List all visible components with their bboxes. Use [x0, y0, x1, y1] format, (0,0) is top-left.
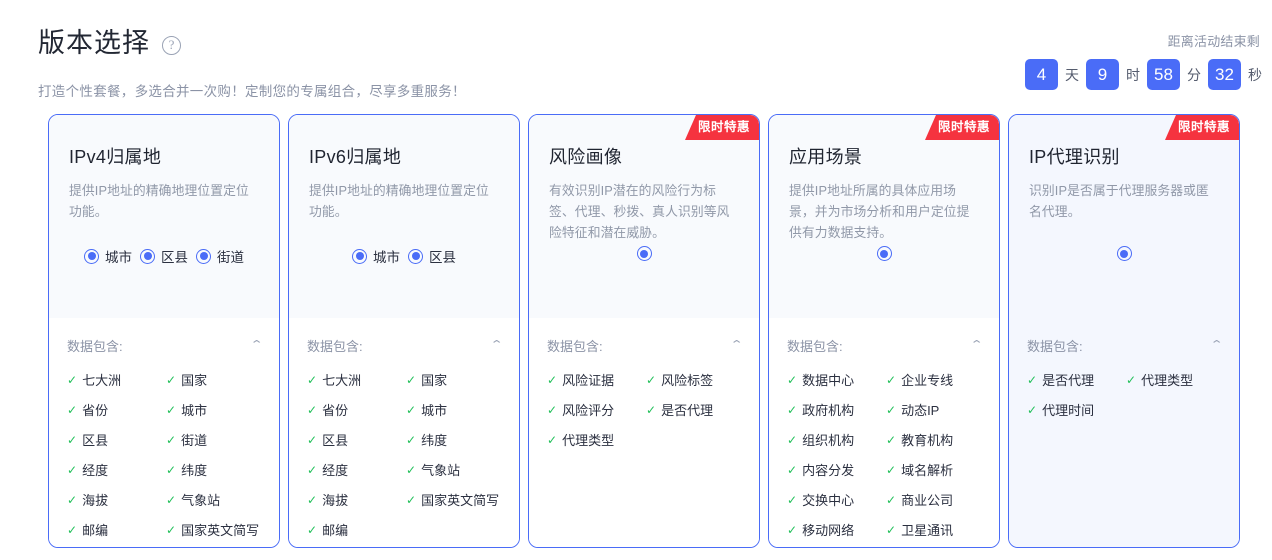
feature-label: 代理类型	[1141, 370, 1193, 389]
check-icon: ✓	[886, 373, 896, 387]
feature-label: 国家	[421, 370, 447, 389]
feature-label: 七大洲	[322, 370, 361, 389]
plan-card[interactable]: 限时特惠应用场景提供IP地址所属的具体应用场景，并为市场分析和用户定位提供有力数…	[768, 114, 1000, 548]
feature-item: ✓城市	[166, 400, 261, 419]
check-icon: ✓	[166, 463, 176, 477]
feature-item: ✓国家英文简写	[406, 490, 501, 509]
feature-item: ✓政府机构	[787, 400, 882, 419]
check-icon: ✓	[547, 433, 557, 447]
check-icon: ✓	[166, 373, 176, 387]
feature-label: 纬度	[181, 460, 207, 479]
card-includes-section: 数据包含:⌃✓风险证据✓风险标签✓风险评分✓是否代理✓代理类型	[529, 318, 759, 547]
check-icon: ✓	[886, 493, 896, 507]
card-includes-section: 数据包含:⌃✓七大洲✓国家✓省份✓城市✓区县✓纬度✓经度✓气象站✓海拔✓国家英文…	[289, 318, 519, 547]
check-icon: ✓	[787, 373, 797, 387]
check-icon: ✓	[307, 463, 317, 477]
feature-item: ✓经度	[307, 460, 402, 479]
radio-option[interactable]: 区县	[140, 246, 188, 266]
feature-item: ✓国家	[406, 370, 501, 389]
radio-selected-icon[interactable]	[637, 246, 652, 261]
feature-item: ✓代理类型	[1126, 370, 1221, 389]
card-top-section: 限时特惠应用场景提供IP地址所属的具体应用场景，并为市场分析和用户定位提供有力数…	[769, 115, 999, 318]
plan-card[interactable]: 限时特惠IP代理识别识别IP是否属于代理服务器或匿名代理。数据包含:⌃✓是否代理…	[1008, 114, 1240, 548]
card-options	[529, 246, 759, 261]
feature-item: ✓国家英文简写	[166, 520, 261, 539]
feature-list: ✓七大洲✓国家✓省份✓城市✓区县✓纬度✓经度✓气象站✓海拔✓国家英文简写✓邮编	[307, 370, 501, 539]
card-title: IPv4归属地	[69, 143, 259, 169]
radio-option-label: 城市	[373, 246, 400, 266]
feature-label: 经度	[322, 460, 348, 479]
card-description: 提供IP地址的精确地理位置定位功能。	[309, 180, 499, 222]
promo-badge: 限时特惠	[925, 115, 999, 140]
radio-selected-icon[interactable]	[408, 249, 423, 264]
countdown-value-1: 9	[1086, 59, 1119, 90]
help-question-icon[interactable]: ?	[162, 36, 181, 55]
feature-label: 城市	[181, 400, 207, 419]
check-icon: ✓	[886, 433, 896, 447]
feature-label: 政府机构	[802, 400, 854, 419]
feature-item: ✓纬度	[406, 430, 501, 449]
check-icon: ✓	[1126, 373, 1136, 387]
feature-item: ✓动态IP	[886, 400, 981, 419]
feature-item: ✓卫星通讯	[886, 520, 981, 539]
feature-label: 国家	[181, 370, 207, 389]
includes-label: 数据包含:	[307, 336, 363, 355]
radio-selected-icon[interactable]	[140, 249, 155, 264]
chevron-up-icon[interactable]: ⌃	[969, 340, 983, 351]
feature-label: 省份	[322, 400, 348, 419]
check-icon: ✓	[307, 493, 317, 507]
countdown-unit-2: 分	[1187, 65, 1201, 85]
feature-item: ✓七大洲	[307, 370, 402, 389]
radio-option[interactable]	[637, 246, 652, 261]
radio-selected-icon[interactable]	[196, 249, 211, 264]
feature-item: ✓是否代理	[1027, 370, 1122, 389]
card-top-section: IPv4归属地提供IP地址的精确地理位置定位功能。城市区县街道	[49, 115, 279, 318]
check-icon: ✓	[406, 493, 416, 507]
card-includes-section: 数据包含:⌃✓七大洲✓国家✓省份✓城市✓区县✓街道✓经度✓纬度✓海拔✓气象站✓邮…	[49, 318, 279, 547]
feature-label: 海拔	[82, 490, 108, 509]
feature-item: ✓国家	[166, 370, 261, 389]
page-title: 版本选择	[38, 26, 150, 60]
check-icon: ✓	[307, 433, 317, 447]
feature-label: 风险评分	[562, 400, 614, 419]
feature-label: 卫星通讯	[901, 520, 953, 539]
check-icon: ✓	[166, 403, 176, 417]
feature-item: ✓风险评分	[547, 400, 642, 419]
radio-selected-icon[interactable]	[84, 249, 99, 264]
feature-label: 是否代理	[1042, 370, 1094, 389]
feature-item: ✓组织机构	[787, 430, 882, 449]
card-title: 风险画像	[549, 143, 739, 169]
feature-item: ✓企业专线	[886, 370, 981, 389]
page-subtitle: 打造个性套餐，多选合并一次购！定制您的专属组合，尽享多重服务！	[38, 80, 466, 100]
radio-selected-icon[interactable]	[877, 246, 892, 261]
feature-list: ✓数据中心✓企业专线✓政府机构✓动态IP✓组织机构✓教育机构✓内容分发✓域名解析…	[787, 370, 981, 539]
feature-label: 海拔	[322, 490, 348, 509]
check-icon: ✓	[67, 523, 77, 537]
countdown-unit-1: 时	[1126, 65, 1140, 85]
card-description: 有效识别IP潜在的风险行为标签、代理、秒拨、真人识别等风险特征和潜在威胁。	[549, 180, 739, 243]
feature-item: ✓代理时间	[1027, 400, 1122, 419]
check-icon: ✓	[166, 523, 176, 537]
radio-option-label: 区县	[161, 246, 188, 266]
countdown-value-3: 32	[1208, 59, 1241, 90]
countdown-units: 4天9时58分32秒	[1025, 59, 1262, 90]
promo-badge: 限时特惠	[685, 115, 759, 140]
feature-label: 风险证据	[562, 370, 614, 389]
feature-label: 纬度	[421, 430, 447, 449]
feature-item: ✓省份	[67, 400, 162, 419]
feature-label: 移动网络	[802, 520, 854, 539]
promo-badge: 限时特惠	[1165, 115, 1239, 140]
feature-item: ✓邮编	[307, 520, 402, 539]
feature-label: 城市	[421, 400, 447, 419]
feature-label: 教育机构	[901, 430, 953, 449]
plan-cards: IPv4归属地提供IP地址的精确地理位置定位功能。城市区县街道数据包含:⌃✓七大…	[48, 114, 1240, 548]
feature-item: ✓风险证据	[547, 370, 642, 389]
card-top-section: 限时特惠IP代理识别识别IP是否属于代理服务器或匿名代理。	[1009, 115, 1239, 318]
radio-option-label: 街道	[217, 246, 244, 266]
chevron-up-icon[interactable]: ⌃	[1209, 340, 1223, 351]
check-icon: ✓	[307, 373, 317, 387]
countdown-unit-0: 天	[1065, 65, 1079, 85]
feature-label: 风险标签	[661, 370, 713, 389]
feature-label: 气象站	[181, 490, 220, 509]
radio-selected-icon[interactable]	[352, 249, 367, 264]
check-icon: ✓	[406, 463, 416, 477]
includes-label: 数据包含:	[547, 336, 603, 355]
chevron-up-icon[interactable]: ⌃	[729, 340, 743, 351]
feature-item: ✓数据中心	[787, 370, 882, 389]
radio-option[interactable]: 街道	[196, 246, 244, 266]
feature-item: ✓移动网络	[787, 520, 882, 539]
includes-header[interactable]: 数据包含:⌃	[787, 336, 981, 355]
feature-list: ✓七大洲✓国家✓省份✓城市✓区县✓街道✓经度✓纬度✓海拔✓气象站✓邮编✓国家英文…	[67, 370, 261, 539]
radio-option[interactable]	[1117, 246, 1132, 261]
feature-label: 数据中心	[802, 370, 854, 389]
feature-item: ✓经度	[67, 460, 162, 479]
includes-header[interactable]: 数据包含:⌃	[307, 336, 501, 355]
feature-label: 邮编	[322, 520, 348, 539]
check-icon: ✓	[1027, 373, 1037, 387]
includes-label: 数据包含:	[67, 336, 123, 355]
card-includes-section: 数据包含:⌃✓数据中心✓企业专线✓政府机构✓动态IP✓组织机构✓教育机构✓内容分…	[769, 318, 999, 547]
feature-item: ✓区县	[67, 430, 162, 449]
check-icon: ✓	[67, 373, 77, 387]
card-includes-section: 数据包含:⌃✓是否代理✓代理类型✓代理时间	[1009, 318, 1239, 547]
plan-card[interactable]: IPv4归属地提供IP地址的精确地理位置定位功能。城市区县街道数据包含:⌃✓七大…	[48, 114, 280, 548]
feature-list: ✓风险证据✓风险标签✓风险评分✓是否代理✓代理类型	[547, 370, 741, 449]
feature-item: ✓代理类型	[547, 430, 642, 449]
feature-item: ✓是否代理	[646, 400, 741, 419]
card-description: 提供IP地址所属的具体应用场景，并为市场分析和用户定位提供有力数据支持。	[789, 180, 979, 243]
feature-item: ✓交换中心	[787, 490, 882, 509]
feature-item: ✓教育机构	[886, 430, 981, 449]
feature-item: ✓海拔	[67, 490, 162, 509]
check-icon: ✓	[166, 433, 176, 447]
feature-item: ✓内容分发	[787, 460, 882, 479]
feature-label: 邮编	[82, 520, 108, 539]
check-icon: ✓	[787, 403, 797, 417]
check-icon: ✓	[67, 403, 77, 417]
card-options: 城市区县	[289, 246, 519, 266]
feature-label: 经度	[82, 460, 108, 479]
card-top-section: 限时特惠风险画像有效识别IP潜在的风险行为标签、代理、秒拨、真人识别等风险特征和…	[529, 115, 759, 318]
feature-label: 区县	[82, 430, 108, 449]
feature-label: 省份	[82, 400, 108, 419]
page-header: 版本选择 ? 打造个性套餐，多选合并一次购！定制您的专属组合，尽享多重服务！ 距…	[0, 0, 1272, 110]
countdown-value-0: 4	[1025, 59, 1058, 90]
countdown-value-2: 58	[1147, 59, 1180, 90]
title-row: 版本选择 ?	[38, 26, 181, 60]
feature-label: 国家英文简写	[421, 490, 499, 509]
card-top-section: IPv6归属地提供IP地址的精确地理位置定位功能。城市区县	[289, 115, 519, 318]
countdown-label: 距离活动结束剩	[1025, 31, 1262, 50]
card-title: IP代理识别	[1029, 143, 1219, 169]
countdown-timer: 距离活动结束剩 4天9时58分32秒	[1025, 31, 1262, 90]
card-options	[1009, 246, 1239, 261]
feature-label: 代理时间	[1042, 400, 1094, 419]
radio-option-label: 城市	[105, 246, 132, 266]
card-description: 识别IP是否属于代理服务器或匿名代理。	[1029, 180, 1219, 222]
feature-label: 组织机构	[802, 430, 854, 449]
radio-selected-icon[interactable]	[1117, 246, 1132, 261]
feature-item: ✓区县	[307, 430, 402, 449]
radio-option[interactable]: 城市	[352, 246, 400, 266]
feature-label: 代理类型	[562, 430, 614, 449]
feature-item: ✓气象站	[406, 460, 501, 479]
feature-label: 内容分发	[802, 460, 854, 479]
feature-item: ✓气象站	[166, 490, 261, 509]
check-icon: ✓	[67, 493, 77, 507]
plan-card[interactable]: IPv6归属地提供IP地址的精确地理位置定位功能。城市区县数据包含:⌃✓七大洲✓…	[288, 114, 520, 548]
check-icon: ✓	[67, 433, 77, 447]
check-icon: ✓	[787, 433, 797, 447]
card-options	[769, 246, 999, 261]
feature-label: 国家英文简写	[181, 520, 259, 539]
feature-item: ✓风险标签	[646, 370, 741, 389]
check-icon: ✓	[166, 493, 176, 507]
feature-label: 交换中心	[802, 490, 854, 509]
includes-header[interactable]: 数据包含:⌃	[67, 336, 261, 355]
feature-item: ✓城市	[406, 400, 501, 419]
check-icon: ✓	[886, 523, 896, 537]
card-title: 应用场景	[789, 143, 979, 169]
card-title: IPv6归属地	[309, 143, 499, 169]
countdown-unit-3: 秒	[1248, 65, 1262, 85]
feature-label: 动态IP	[901, 400, 939, 419]
feature-item: ✓七大洲	[67, 370, 162, 389]
includes-header[interactable]: 数据包含:⌃	[1027, 336, 1221, 355]
feature-label: 街道	[181, 430, 207, 449]
check-icon: ✓	[307, 403, 317, 417]
feature-label: 区县	[322, 430, 348, 449]
feature-label: 商业公司	[901, 490, 953, 509]
check-icon: ✓	[886, 463, 896, 477]
check-icon: ✓	[406, 433, 416, 447]
feature-item: ✓街道	[166, 430, 261, 449]
radio-option[interactable]: 区县	[408, 246, 456, 266]
feature-list: ✓是否代理✓代理类型✓代理时间	[1027, 370, 1221, 419]
check-icon: ✓	[406, 403, 416, 417]
check-icon: ✓	[646, 403, 656, 417]
check-icon: ✓	[787, 463, 797, 477]
feature-item: ✓邮编	[67, 520, 162, 539]
feature-label: 是否代理	[661, 400, 713, 419]
radio-option-label: 区县	[429, 246, 456, 266]
feature-label: 气象站	[421, 460, 460, 479]
includes-label: 数据包含:	[787, 336, 843, 355]
feature-item: ✓商业公司	[886, 490, 981, 509]
radio-option[interactable]	[877, 246, 892, 261]
feature-item: ✓省份	[307, 400, 402, 419]
feature-label: 企业专线	[901, 370, 953, 389]
check-icon: ✓	[787, 523, 797, 537]
radio-option[interactable]: 城市	[84, 246, 132, 266]
check-icon: ✓	[886, 403, 896, 417]
check-icon: ✓	[547, 403, 557, 417]
check-icon: ✓	[646, 373, 656, 387]
plan-card[interactable]: 限时特惠风险画像有效识别IP潜在的风险行为标签、代理、秒拨、真人识别等风险特征和…	[528, 114, 760, 548]
check-icon: ✓	[307, 523, 317, 537]
includes-header[interactable]: 数据包含:⌃	[547, 336, 741, 355]
feature-item: ✓海拔	[307, 490, 402, 509]
card-options: 城市区县街道	[49, 246, 279, 266]
check-icon: ✓	[406, 373, 416, 387]
feature-item: ✓纬度	[166, 460, 261, 479]
feature-label: 域名解析	[901, 460, 953, 479]
chevron-up-icon[interactable]: ⌃	[249, 340, 263, 351]
check-icon: ✓	[67, 463, 77, 477]
includes-label: 数据包含:	[1027, 336, 1083, 355]
feature-item: ✓域名解析	[886, 460, 981, 479]
check-icon: ✓	[787, 493, 797, 507]
check-icon: ✓	[547, 373, 557, 387]
feature-label: 七大洲	[82, 370, 121, 389]
chevron-up-icon[interactable]: ⌃	[489, 340, 503, 351]
check-icon: ✓	[1027, 403, 1037, 417]
card-description: 提供IP地址的精确地理位置定位功能。	[69, 180, 259, 222]
